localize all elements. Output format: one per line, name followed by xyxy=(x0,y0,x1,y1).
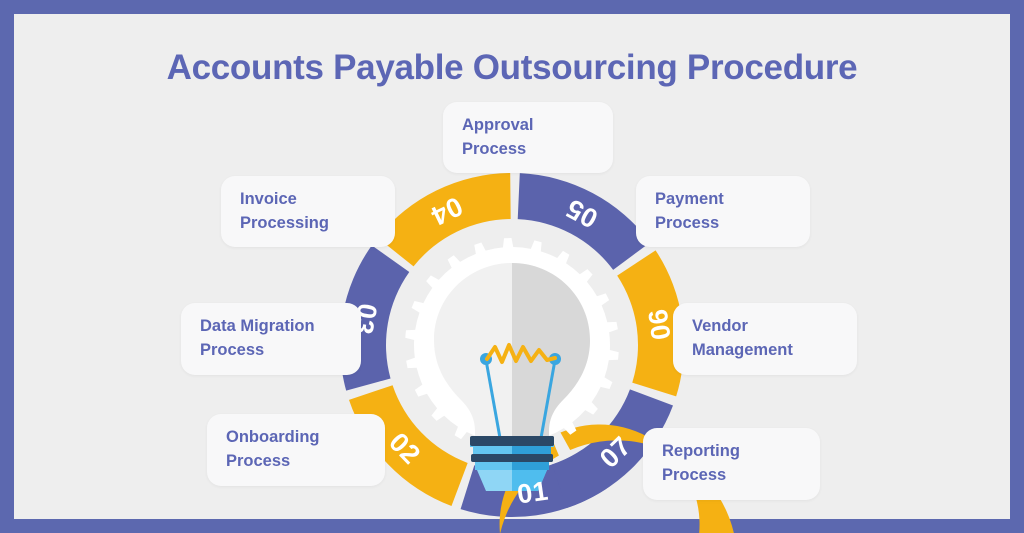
label-line-2: Management xyxy=(692,339,793,363)
label-line-2: Processing xyxy=(240,212,329,236)
label-line-1: Approval xyxy=(462,114,534,138)
label-line-1: Vendor xyxy=(692,315,793,339)
label-card-vendor-management[interactable]: Vendor Management xyxy=(673,303,857,375)
label-card-data-migration-process[interactable]: Data Migration Process xyxy=(181,303,361,375)
label-line-1: Invoice xyxy=(240,188,329,212)
poster-frame: Accounts Payable Outsourcing Procedure xyxy=(14,14,1010,519)
label-line-1: Data Migration xyxy=(200,315,315,339)
diagram-stage: 01020304050607 Approval Process Invoice … xyxy=(14,14,1010,519)
label-line-1: Payment xyxy=(655,188,724,212)
label-line-2: Process xyxy=(200,339,315,363)
label-line-2: Process xyxy=(655,212,724,236)
label-line-2: Process xyxy=(662,464,740,488)
lightbulb-icon xyxy=(434,263,590,491)
label-card-approval-process[interactable]: Approval Process xyxy=(443,102,613,173)
label-card-reporting-process[interactable]: Reporting Process xyxy=(643,428,820,500)
label-card-payment-process[interactable]: Payment Process xyxy=(636,176,810,247)
segment-number-01: 01 xyxy=(515,476,550,510)
label-card-invoice-processing[interactable]: Invoice Processing xyxy=(221,176,395,247)
label-line-1: Reporting xyxy=(662,440,740,464)
label-line-2: Process xyxy=(226,450,320,474)
segment-number-06: 06 xyxy=(643,307,677,342)
circular-process-diagram: 01020304050607 xyxy=(14,14,1010,519)
label-line-2: Process xyxy=(462,138,534,162)
label-card-onboarding-process[interactable]: Onboarding Process xyxy=(207,414,385,486)
label-line-1: Onboarding xyxy=(226,426,320,450)
